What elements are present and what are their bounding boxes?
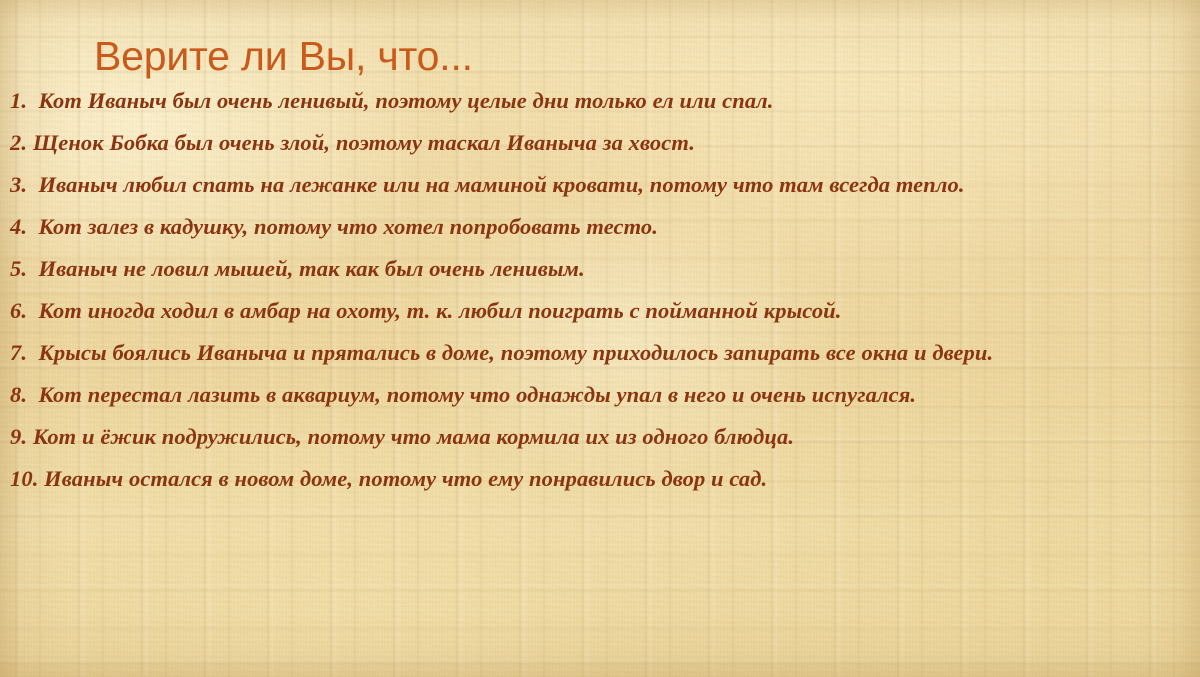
list-item-text: Кот перестал лазить в аквариум, потому ч… [39, 382, 917, 407]
list-item-number: 8. [10, 382, 27, 407]
list-item-gap [27, 256, 38, 281]
list-item-text: Кот и ёжик подружились, потому что мама … [33, 424, 794, 449]
list-item-number: 4. [10, 214, 27, 239]
list-item: 5. Иваныч не ловил мышей, так как был оч… [10, 254, 1186, 283]
list-item: 8. Кот перестал лазить в аквариум, потом… [10, 380, 1186, 409]
list-item-text: Крысы боялись Иваныча и прятались в доме… [39, 340, 994, 365]
list-item-text: Иваныч не ловил мышей, так как был очень… [39, 256, 585, 281]
list-item: 4. Кот залез в кадушку, потому что хотел… [10, 212, 1186, 241]
list-item-number: 1. [10, 88, 27, 113]
list-item-number: 6. [10, 298, 27, 323]
list-item-text: Иваныч любил спать на лежанке или на мам… [39, 172, 965, 197]
list-item-gap [27, 214, 38, 239]
list-item-text: Кот иногда ходил в амбар на охоту, т. к.… [39, 298, 842, 323]
list-item: 10. Иваныч остался в новом доме, потому … [10, 464, 1186, 493]
list-item: 6. Кот иногда ходил в амбар на охоту, т.… [10, 296, 1186, 325]
list-item-number: 2. [10, 130, 27, 155]
presentation-slide: Верите ли Вы, что... 1. Кот Иваныч был о… [0, 0, 1200, 677]
list-item-gap [27, 340, 38, 365]
list-item: 2. Щенок Бобка был очень злой, поэтому т… [10, 128, 1186, 157]
list-item-number: 10. [10, 466, 38, 491]
list-item-text: Кот залез в кадушку, потому что хотел по… [39, 214, 658, 239]
list-item-number: 7. [10, 340, 27, 365]
list-item-text: Кот Иваныч был очень ленивый, поэтому це… [39, 88, 774, 113]
list-item: 9. Кот и ёжик подружились, потому что ма… [10, 422, 1186, 451]
facts-list: 1. Кот Иваныч был очень ленивый, поэтому… [0, 86, 1200, 506]
list-item-number: 5. [10, 256, 27, 281]
list-item-gap [27, 88, 38, 113]
page-title: Верите ли Вы, что... [94, 36, 473, 77]
list-item: 1. Кот Иваныч был очень ленивый, поэтому… [10, 86, 1186, 115]
list-item-text: Иваныч остался в новом доме, потому что … [44, 466, 767, 491]
list-item-text: Щенок Бобка был очень злой, поэтому таск… [33, 130, 695, 155]
list-item-gap [27, 382, 38, 407]
list-item: 3. Иваныч любил спать на лежанке или на … [10, 170, 1186, 199]
list-item-number: 3. [10, 172, 27, 197]
list-item-gap [27, 298, 38, 323]
list-item-gap [27, 172, 38, 197]
list-item: 7. Крысы боялись Иваныча и прятались в д… [10, 338, 1186, 367]
list-item-number: 9. [10, 424, 27, 449]
